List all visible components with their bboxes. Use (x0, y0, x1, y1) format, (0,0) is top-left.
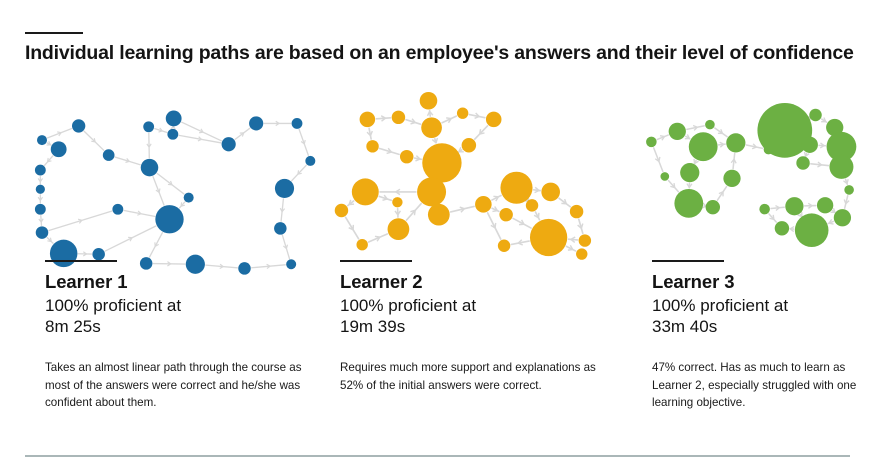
graph-node[interactable] (680, 163, 699, 182)
graph-node[interactable] (417, 177, 446, 206)
graph-edge (41, 216, 42, 226)
graph-edge (149, 133, 150, 158)
learner-3-caption: Learner 3 100% proficient at 33m 40s 47%… (652, 260, 876, 412)
caption-rule (652, 260, 724, 262)
learner-stat: 100% proficient at 8m 25s (45, 295, 313, 338)
graph-node[interactable] (92, 248, 105, 261)
graph-node[interactable] (36, 185, 45, 194)
graph-node[interactable] (576, 248, 587, 259)
graph-node[interactable] (305, 156, 315, 166)
graph-node[interactable] (335, 204, 348, 217)
graph-edge (654, 148, 663, 171)
graph-nodes (335, 92, 591, 260)
learner-1-network-graph (22, 88, 322, 256)
graph-edge (179, 135, 221, 142)
graph-node[interactable] (72, 119, 85, 132)
caption-rule (340, 260, 412, 262)
graph-node[interactable] (352, 178, 379, 205)
learner-name: Learner 3 (652, 271, 876, 294)
graph-node[interactable] (674, 189, 703, 218)
learner-1-graph-column (22, 88, 322, 256)
graph-node[interactable] (103, 149, 115, 161)
graph-node[interactable] (51, 141, 67, 157)
graph-node[interactable] (36, 226, 49, 239)
graph-node[interactable] (428, 204, 450, 226)
graph-edge (292, 165, 306, 180)
graph-node[interactable] (817, 197, 833, 213)
graph-edge (299, 129, 308, 155)
graph-node[interactable] (37, 135, 47, 145)
graph-nodes (35, 111, 315, 275)
graph-node[interactable] (775, 221, 789, 235)
graph-node[interactable] (541, 183, 560, 202)
learner-3-svg (636, 88, 876, 263)
graph-node[interactable] (422, 143, 461, 182)
graph-node[interactable] (834, 209, 851, 226)
graph-node[interactable] (475, 196, 492, 213)
learner-3-network-graph (636, 88, 876, 256)
graph-edge (45, 156, 53, 165)
learner-2-caption: Learner 2 100% proficient at 19m 39s Req… (340, 260, 608, 394)
graph-node[interactable] (392, 111, 405, 124)
graph-node[interactable] (726, 133, 745, 152)
graph-node[interactable] (844, 185, 854, 195)
graph-edge (488, 213, 501, 239)
graph-node[interactable] (112, 204, 123, 215)
graph-node[interactable] (759, 204, 770, 215)
graph-node[interactable] (166, 111, 182, 127)
graph-node[interactable] (706, 200, 720, 214)
graph-node[interactable] (660, 172, 669, 181)
graph-node[interactable] (809, 109, 821, 121)
learner-1-caption: Learner 1 100% proficient at 8m 25s Take… (45, 260, 313, 412)
graph-edge (235, 128, 250, 139)
learner-description: 47% correct. Has as much to learn as Lea… (652, 359, 876, 412)
infographic-page: Individual learning paths are based on a… (0, 0, 876, 474)
graph-edge (346, 217, 359, 238)
graph-edge (153, 177, 164, 205)
graph-node[interactable] (35, 204, 46, 215)
graph-edge (84, 131, 104, 150)
stat-line-1: 100% proficient at (340, 295, 608, 316)
graph-node[interactable] (141, 159, 159, 177)
graph-node[interactable] (366, 140, 378, 152)
graph-edge (48, 129, 72, 138)
stat-line-2: 8m 25s (45, 316, 313, 337)
graph-edge (376, 118, 390, 119)
footer-rule (25, 455, 850, 457)
page-title: Individual learning paths are based on a… (25, 42, 865, 65)
graph-node[interactable] (689, 132, 718, 161)
graph-node[interactable] (143, 121, 154, 132)
graph-node[interactable] (292, 118, 303, 129)
graph-node[interactable] (155, 205, 183, 233)
graph-node[interactable] (420, 92, 438, 110)
graph-edge (115, 157, 140, 165)
learner-stat: 100% proficient at 19m 39s (340, 295, 608, 338)
graph-edge (475, 126, 488, 139)
graph-edges (38, 121, 308, 268)
graph-edge (150, 233, 163, 257)
graph-edge (527, 200, 528, 201)
graph-node[interactable] (795, 213, 829, 247)
graph-node[interactable] (526, 199, 538, 211)
graph-node[interactable] (486, 112, 502, 128)
graph-nodes (646, 103, 856, 247)
graph-node[interactable] (579, 234, 591, 246)
graph-edge (182, 122, 222, 141)
graph-node[interactable] (275, 179, 294, 198)
learner-stat: 100% proficient at 33m 40s (652, 295, 876, 338)
header-rule (25, 32, 83, 34)
graph-node[interactable] (249, 116, 263, 130)
graph-node[interactable] (35, 165, 46, 176)
graph-edge (105, 226, 156, 251)
stat-line-2: 33m 40s (652, 316, 876, 337)
stat-line-1: 100% proficient at (45, 295, 313, 316)
learner-2-svg (328, 88, 618, 273)
learner-name: Learner 1 (45, 271, 313, 294)
graph-node[interactable] (723, 170, 740, 187)
learner-3-graph-column (636, 88, 876, 256)
graph-node[interactable] (785, 197, 803, 215)
learner-2-network-graph (328, 88, 628, 256)
graph-node[interactable] (457, 107, 468, 118)
graph-node[interactable] (356, 239, 367, 250)
graph-edge (406, 204, 421, 220)
stat-line-2: 19m 39s (340, 316, 608, 337)
graph-node[interactable] (829, 155, 853, 179)
graph-node[interactable] (274, 222, 287, 235)
graph-node[interactable] (570, 205, 583, 218)
graph-node[interactable] (498, 240, 510, 252)
graph-edge (568, 239, 577, 240)
graph-node[interactable] (646, 137, 657, 148)
graph-node[interactable] (388, 218, 410, 240)
graph-node[interactable] (499, 208, 512, 221)
stat-line-1: 100% proficient at (652, 295, 876, 316)
graph-node[interactable] (669, 123, 686, 140)
graph-node[interactable] (462, 138, 477, 153)
graph-node[interactable] (392, 197, 402, 207)
graph-node[interactable] (802, 137, 818, 153)
graph-node[interactable] (360, 112, 376, 128)
graph-node[interactable] (400, 150, 413, 163)
learner-description: Requires much more support and explanati… (340, 359, 608, 394)
learner-2-graph-column (328, 88, 628, 256)
graph-edge (157, 174, 184, 194)
graph-node[interactable] (167, 129, 178, 140)
graph-node[interactable] (796, 156, 809, 169)
caption-rule (45, 260, 117, 262)
graph-node[interactable] (530, 219, 567, 256)
learner-description: Takes an almost linear path through the … (45, 359, 313, 412)
learner-name: Learner 2 (340, 271, 608, 294)
graph-edge (668, 181, 678, 192)
graph-edge (282, 235, 289, 258)
graph-node[interactable] (705, 120, 715, 130)
graph-node[interactable] (500, 172, 532, 204)
graph-node[interactable] (421, 117, 442, 138)
graph-node[interactable] (222, 137, 236, 151)
graph-node[interactable] (184, 193, 194, 203)
graph-edge (49, 211, 112, 230)
